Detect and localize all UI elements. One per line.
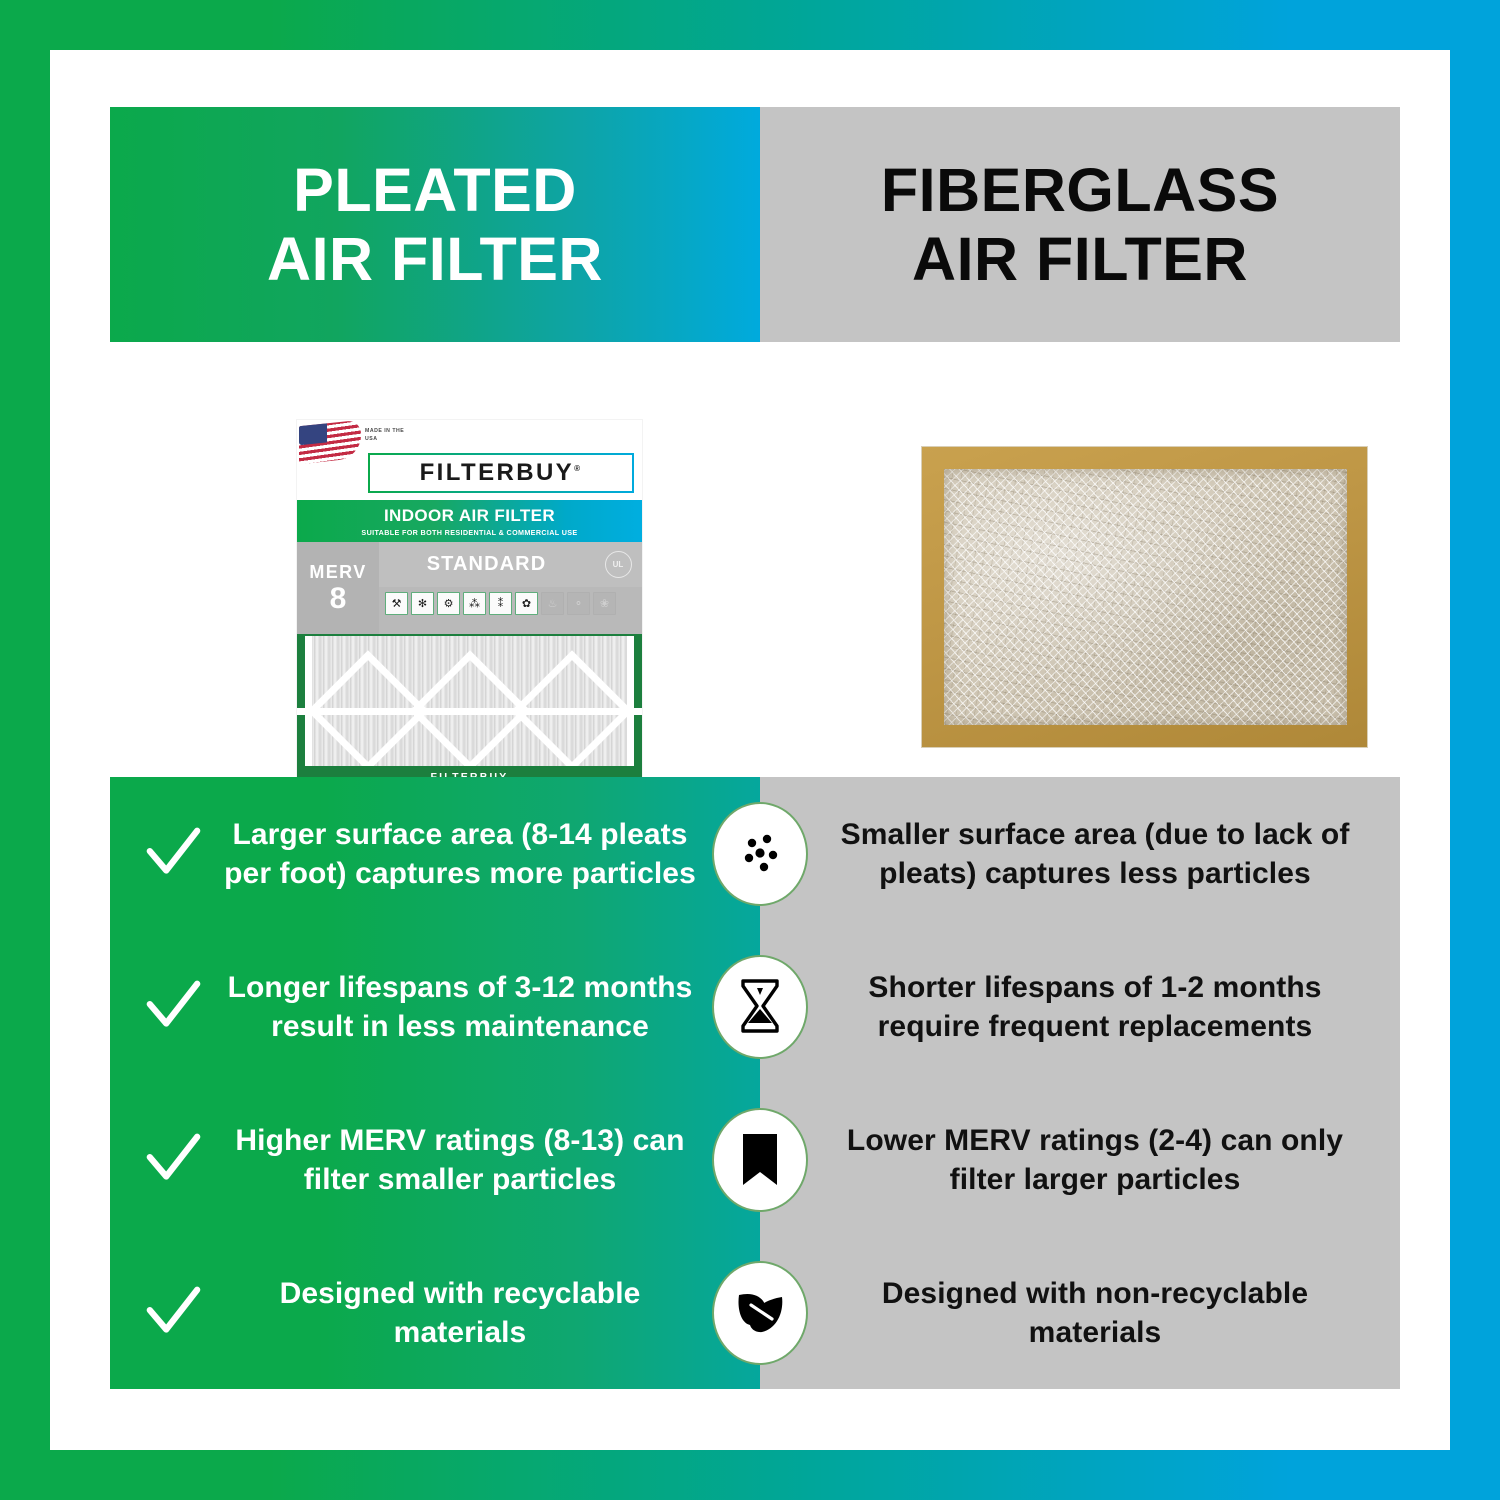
bookmark-icon — [738, 1132, 782, 1188]
pleated-media-view: FILTERBUY — [297, 634, 642, 788]
check-icon — [144, 978, 202, 1036]
comparison-pleated-text: Higher MERV ratings (8-13) can filter sm… — [212, 1121, 708, 1199]
bacteria-icon: ⚬ — [567, 592, 590, 615]
comparison-pleated-cell: Designed with recyclable materials — [110, 1236, 760, 1389]
particles-icon — [734, 828, 786, 880]
comparison-fiberglass-text: Designed with non-recyclable materials — [834, 1274, 1356, 1352]
header-fiberglass-title: FIBERGLASS AIR FILTER — [881, 156, 1279, 293]
comparison-pleated-text: Longer lifespans of 3-12 months result i… — [212, 968, 708, 1046]
white-canvas: PLEATED AIR FILTER FIBERGLASS AIR FILTER… — [50, 50, 1450, 1450]
header-fiberglass-line2: AIR FILTER — [881, 225, 1279, 293]
dust-mites-icon: ✻ — [411, 592, 434, 615]
ul-mark-icon: UL — [605, 551, 632, 578]
comparison-fiberglass-text: Lower MERV ratings (2-4) can only filter… — [834, 1121, 1356, 1199]
check-icon — [144, 1131, 202, 1189]
header-fiberglass-line1: FIBERGLASS — [881, 156, 1279, 224]
comparison-fiberglass-cell: Shorter lifespans of 1-2 months require … — [760, 930, 1400, 1083]
hourglass-icon — [737, 978, 783, 1036]
trademark-symbol: ® — [574, 464, 582, 473]
fiberglass-mesh-texture — [944, 469, 1347, 725]
packaging-top-band: MADE IN THE USA FILTERBUY® — [297, 420, 642, 500]
check-icon — [144, 825, 202, 883]
comparison-fiberglass-text: Shorter lifespans of 1-2 months require … — [834, 968, 1356, 1046]
packaging-feature-icon-row: ⚒✻⚙⁂⁑✿♨⚬❀ — [379, 587, 642, 634]
merv-value: 8 — [330, 584, 347, 614]
comparison-pleated-cell: Higher MERV ratings (8-13) can filter sm… — [110, 1083, 760, 1236]
pleated-filter-product-image: MADE IN THE USA FILTERBUY® INDOOR AIR FI… — [297, 420, 642, 788]
pollen-icon: ⚙ — [437, 592, 460, 615]
header-pleated: PLEATED AIR FILTER — [110, 107, 760, 342]
lint-icon: ⁑ — [489, 592, 512, 615]
comparison-fiberglass-text: Smaller surface area (due to lack of ple… — [834, 815, 1356, 893]
comparison-row: Larger surface area (8-14 pleats per foo… — [110, 777, 1400, 930]
brand-name: FILTERBUY® — [420, 459, 583, 487]
comparison-fiberglass-cell: Designed with non-recyclable materials — [760, 1236, 1400, 1389]
infographic-root: PLEATED AIR FILTER FIBERGLASS AIR FILTER… — [0, 0, 1500, 1500]
packaging-product-subtitle: SUITABLE FOR BOTH RESIDENTIAL & COMMERCI… — [361, 528, 577, 537]
packaging-grade-label: STANDARD — [379, 553, 594, 576]
merv-rating-block: MERV 8 — [297, 542, 379, 634]
comparison-row: Designed with recyclable materialsDesign… — [110, 1236, 1400, 1389]
header-pleated-title: PLEATED AIR FILTER — [267, 156, 603, 293]
mold-icon: ⁂ — [463, 592, 486, 615]
packaging-product-band: INDOOR AIR FILTER SUITABLE FOR BOTH RESI… — [297, 500, 642, 542]
pet-dander-icon: ✿ — [515, 592, 538, 615]
comparison-row: Longer lifespans of 3-12 months result i… — [110, 930, 1400, 1083]
comparison-panel: Larger surface area (8-14 pleats per foo… — [110, 777, 1400, 1389]
comparison-pleated-cell: Longer lifespans of 3-12 months result i… — [110, 930, 760, 1083]
comparison-badge — [712, 802, 808, 906]
comparison-badge — [712, 1108, 808, 1212]
virus-icon: ❀ — [593, 592, 616, 615]
pleat-frame-right — [627, 636, 634, 766]
header-pleated-line1: PLEATED — [267, 156, 603, 224]
ul-certification: UL — [594, 551, 642, 578]
comparison-fiberglass-cell: Lower MERV ratings (2-4) can only filter… — [760, 1083, 1400, 1236]
comparison-pleated-text: Designed with recyclable materials — [212, 1274, 708, 1352]
comparison-pleated-text: Larger surface area (8-14 pleats per foo… — [212, 815, 708, 893]
made-in-usa-label: MADE IN THE USA — [365, 428, 405, 444]
leaves-icon — [732, 1287, 788, 1339]
comparison-fiberglass-cell: Smaller surface area (due to lack of ple… — [760, 777, 1400, 930]
pleat-frame-left — [305, 636, 312, 766]
header-band: PLEATED AIR FILTER FIBERGLASS AIR FILTER — [110, 107, 1400, 342]
brand-logo-box: FILTERBUY® — [368, 453, 634, 493]
header-fiberglass: FIBERGLASS AIR FILTER — [760, 107, 1400, 342]
header-pleated-line2: AIR FILTER — [267, 225, 603, 293]
comparison-badge — [712, 955, 808, 1059]
packaging-spec-right: STANDARD UL ⚒✻⚙⁂⁑✿♨⚬❀ — [379, 542, 642, 634]
smoke-icon: ♨ — [541, 592, 564, 615]
comparison-row: Higher MERV ratings (8-13) can filter sm… — [110, 1083, 1400, 1236]
check-icon — [144, 1284, 202, 1342]
fiberglass-filter-product-image — [922, 447, 1367, 747]
usa-flag-icon — [299, 420, 361, 464]
packaging-spec-band: MERV 8 STANDARD UL ⚒✻⚙⁂⁑✿♨⚬❀ — [297, 542, 642, 634]
merv-label: MERV — [309, 562, 366, 583]
comparison-pleated-cell: Larger surface area (8-14 pleats per foo… — [110, 777, 760, 930]
product-images-row: MADE IN THE USA FILTERBUY® INDOOR AIR FI… — [110, 342, 1400, 825]
comparison-badge — [712, 1261, 808, 1365]
packaging-product-type: INDOOR AIR FILTER — [384, 506, 555, 526]
packaging-grade-row: STANDARD UL — [379, 542, 642, 587]
household-dust-debris-icon: ⚒ — [385, 592, 408, 615]
